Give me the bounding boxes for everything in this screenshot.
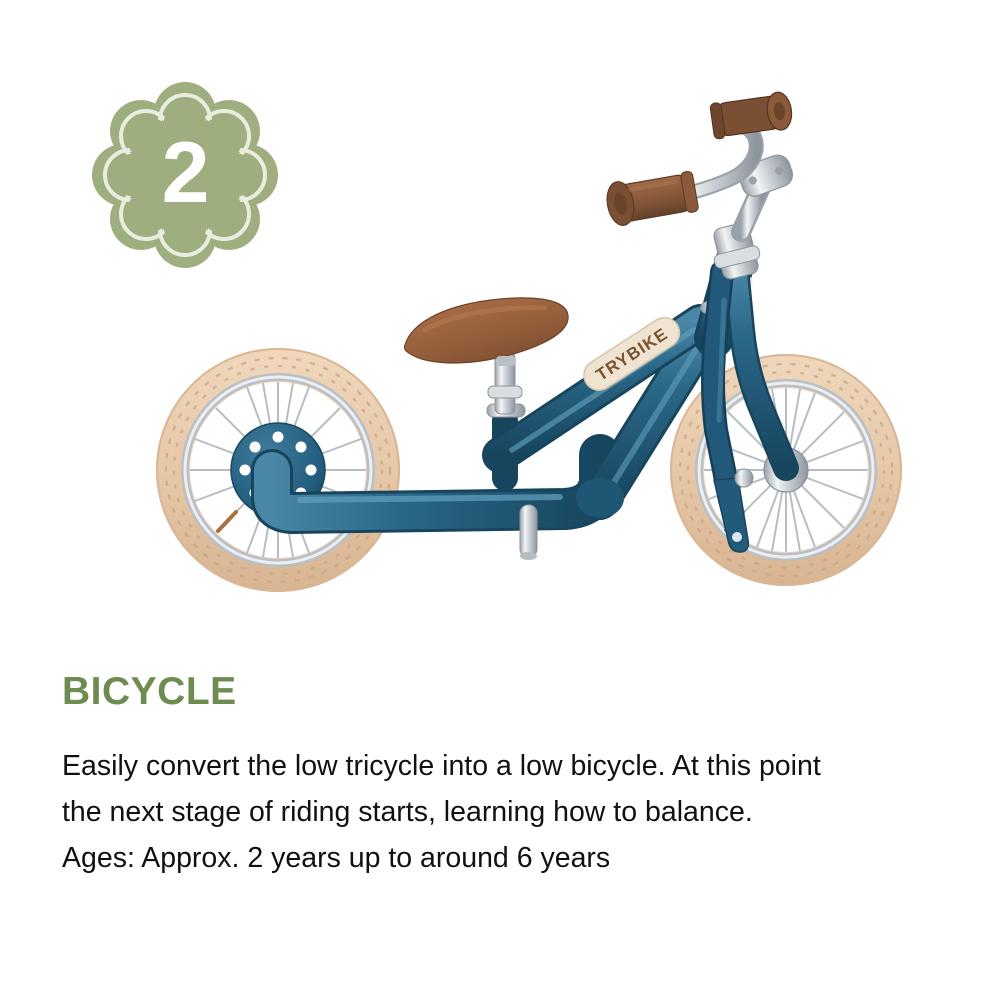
footrest-peg [520, 505, 537, 560]
section-paragraph: Easily convert the low tricycle into a l… [62, 713, 952, 881]
paragraph-line-3: Ages: Approx. 2 years up to around 6 yea… [62, 835, 952, 881]
page-root: TRYBIKE [0, 0, 1000, 1000]
paragraph-line-1: Easily convert the low tricycle into a l… [62, 743, 952, 789]
step-number: 2 [92, 82, 278, 268]
saddle [404, 298, 568, 366]
description-block: BICYCLE Easily convert the low tricycle … [62, 672, 962, 881]
handlebar-stem [712, 152, 796, 281]
paragraph-line-2: the next stage of riding starts, learnin… [62, 789, 952, 835]
section-title: BICYCLE [62, 672, 962, 713]
step-badge: 2 [92, 82, 278, 268]
